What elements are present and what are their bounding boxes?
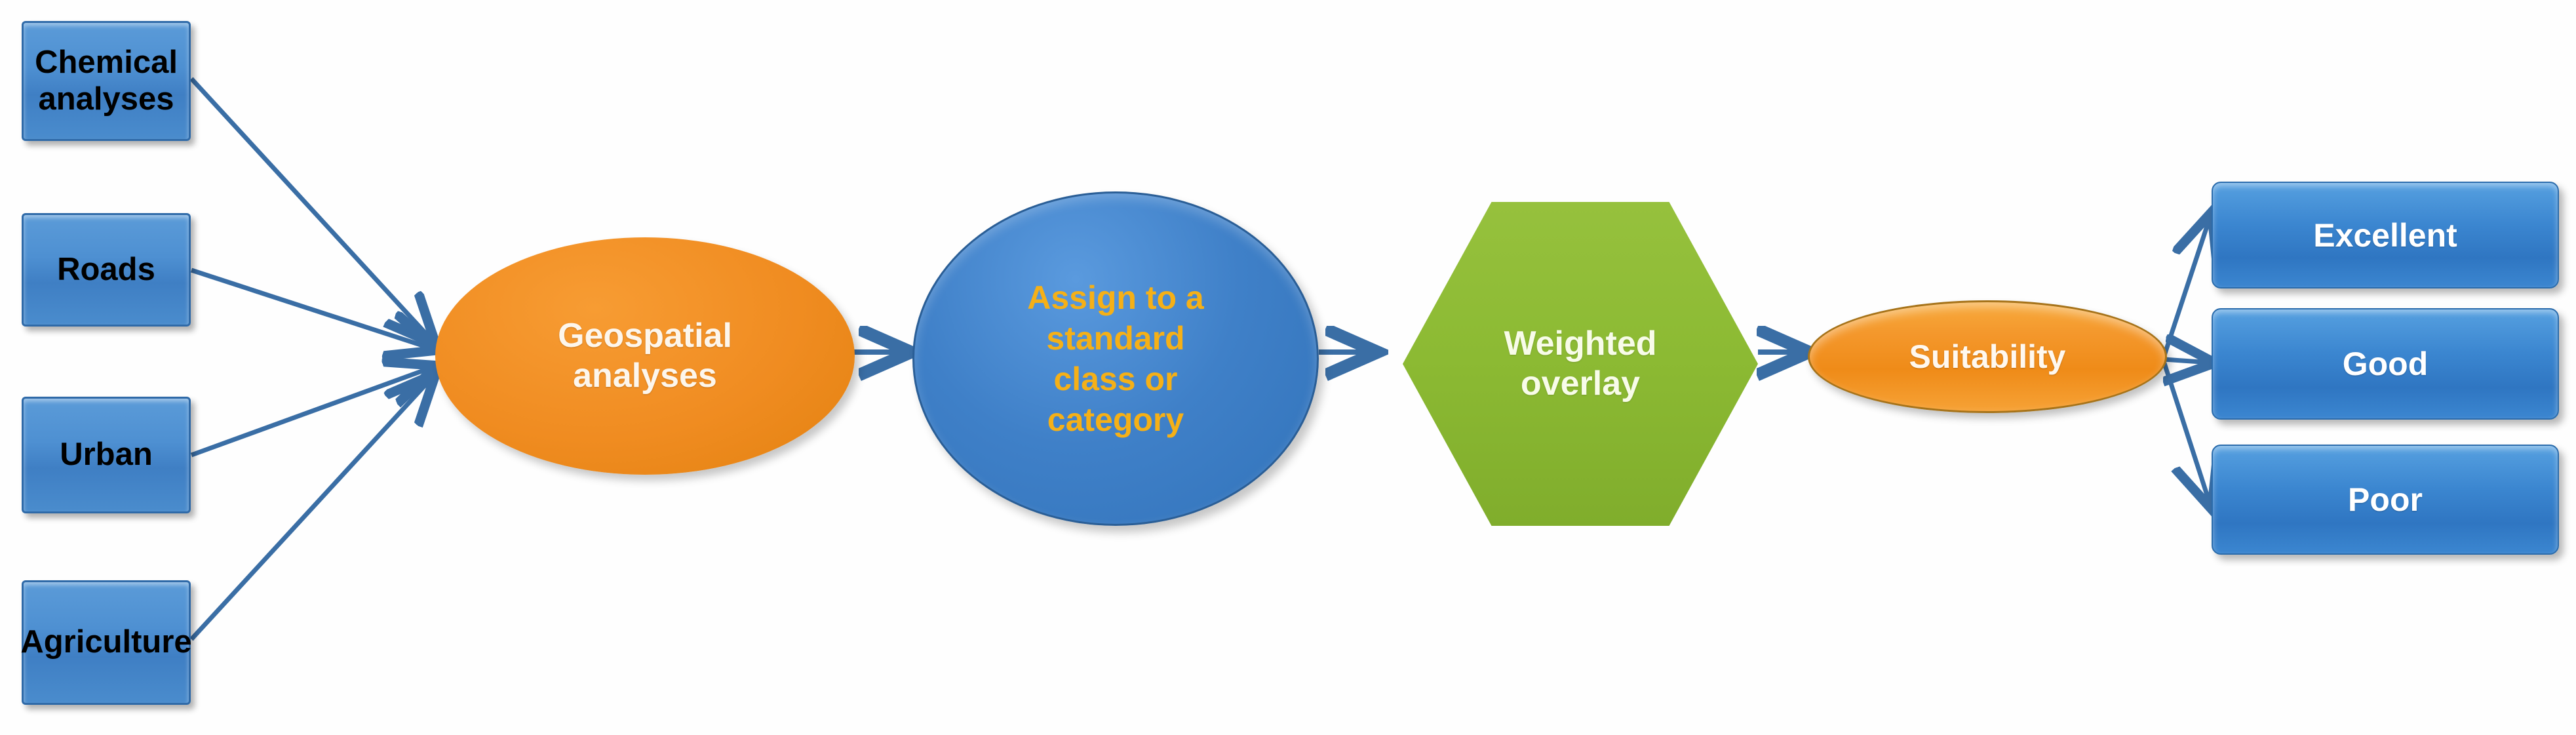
input-label-line-2: analyses <box>35 81 178 118</box>
weighted-label-line-2: overlay <box>1504 364 1656 404</box>
weighted-label-line-1: Weighted <box>1504 324 1656 364</box>
assign-label-line-1: Assign to a <box>1027 277 1203 318</box>
input-box-urban-label: Urban <box>60 437 153 473</box>
assign-label-line-2: standard <box>1027 318 1203 359</box>
process-geospatial-analyses[interactable]: Geospatial analyses <box>435 237 855 475</box>
geospatial-label-line-2: analyses <box>558 356 732 396</box>
process-weighted-overlay-label: Weighted overlay <box>1504 324 1656 405</box>
edge-suitability-to-good <box>2163 359 2210 363</box>
edge-chemical-to-geospatial <box>191 79 433 341</box>
process-geospatial-analyses-label: Geospatial analyses <box>558 316 732 397</box>
edge-agriculture-to-geospatial <box>191 377 433 639</box>
assign-label-line-4: category <box>1027 399 1203 440</box>
edge-roads-to-geospatial <box>191 270 433 349</box>
geospatial-label-line-1: Geospatial <box>558 316 732 356</box>
input-box-agriculture-label: Agriculture <box>20 624 191 661</box>
input-box-agriculture[interactable]: Agriculture <box>22 580 191 705</box>
edge-suitability-to-poor <box>2163 359 2210 505</box>
output-box-poor[interactable]: Poor <box>2212 445 2559 555</box>
input-box-chemical-analyses[interactable]: Chemical analyses <box>22 21 191 141</box>
output-box-excellent[interactable]: Excellent <box>2212 182 2559 288</box>
input-box-roads[interactable]: Roads <box>22 213 191 327</box>
edge-urban-to-geospatial <box>191 367 433 455</box>
input-box-roads-label: Roads <box>57 252 155 288</box>
process-assign-standard-class-label: Assign to a standard class or category <box>1027 277 1203 440</box>
process-weighted-overlay[interactable]: Weighted overlay <box>1403 202 1758 526</box>
process-assign-standard-class[interactable]: Assign to a standard class or category <box>912 191 1319 526</box>
process-suitability-label: Suitability <box>1909 338 2066 376</box>
process-suitability[interactable]: Suitability <box>1808 300 2167 413</box>
output-box-good[interactable]: Good <box>2212 308 2559 420</box>
input-label-line-1: Chemical <box>35 45 178 81</box>
input-box-chemical-analyses-label: Chemical analyses <box>35 45 178 118</box>
edge-suitability-to-excellent <box>2163 216 2210 359</box>
output-box-good-label: Good <box>2343 345 2429 383</box>
flowchart-canvas: Chemical analyses Roads Urban Agricultur… <box>0 0 2576 735</box>
assign-label-line-3: class or <box>1027 359 1203 399</box>
input-box-urban[interactable]: Urban <box>22 397 191 513</box>
output-box-poor-label: Poor <box>2348 481 2423 519</box>
output-box-excellent-label: Excellent <box>2313 216 2457 254</box>
